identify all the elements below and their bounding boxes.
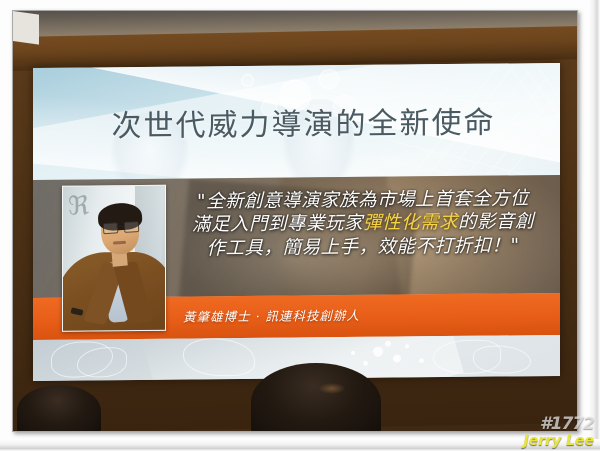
watermark: #1772 Jerry Lee (524, 416, 594, 449)
footer-splatter-4 (363, 361, 368, 366)
slide-header-band: 次世代威力導演的全新使命 (33, 63, 560, 180)
projection-screen: 次世代威力導演的全新使命 "全新創意導演家族為市場上首套全方位 滿足入門到專業玩… (33, 63, 560, 381)
head-highlight (319, 383, 345, 394)
footer-splatter-5 (405, 344, 409, 348)
audience-head-right (251, 363, 381, 432)
footer-splatter-7 (419, 358, 424, 363)
frame-edge-bottom (0, 439, 600, 451)
quote-line-2-after: 的影音創 (458, 211, 534, 233)
ceiling-corner (13, 11, 39, 45)
attribution-text: 黃肇雄博士 · 訊連科技創辦人 (183, 305, 360, 326)
audience-head-left (17, 385, 101, 432)
portrait-background-glyph: ℜ (68, 191, 89, 221)
quote-line-2: 滿足入門到專業玩家彈性化需求的影音創 (173, 210, 553, 237)
footer-splatter-6 (351, 351, 355, 355)
glasses-icon (103, 221, 137, 232)
footer-splatter-3 (393, 354, 401, 362)
photo-content: 次世代威力導演的全新使命 "全新創意導演家族為市場上首套全方位 滿足入門到專業玩… (12, 10, 578, 432)
footer-splatter-2 (385, 341, 391, 347)
slide-title: 次世代威力導演的全新使命 (33, 63, 560, 180)
footer-splatter-1 (373, 347, 383, 357)
photograph-frame: 次世代威力導演的全新使命 "全新創意導演家族為市場上首套全方位 滿足入門到專業玩… (0, 0, 600, 451)
watermark-number: #1772 (524, 416, 594, 434)
slide: 次世代威力導演的全新使命 "全新創意導演家族為市場上首套全方位 滿足入門到專業玩… (33, 63, 560, 381)
watermark-author: Jerry Lee (524, 434, 594, 449)
quote-highlight: 彈性化需求 (363, 212, 458, 234)
quote-line-2-before: 滿足入門到專業玩家 (192, 213, 363, 236)
speaker-portrait: ℜ (62, 185, 166, 332)
quote-line-3: 作工具，簡易上手，效能不打折扣！" (173, 234, 553, 261)
quote-text: "全新創意導演家族為市場上首套全方位 滿足入門到專業玩家彈性化需求的影音創 作工… (173, 187, 553, 261)
frame-edge-right (588, 0, 600, 451)
